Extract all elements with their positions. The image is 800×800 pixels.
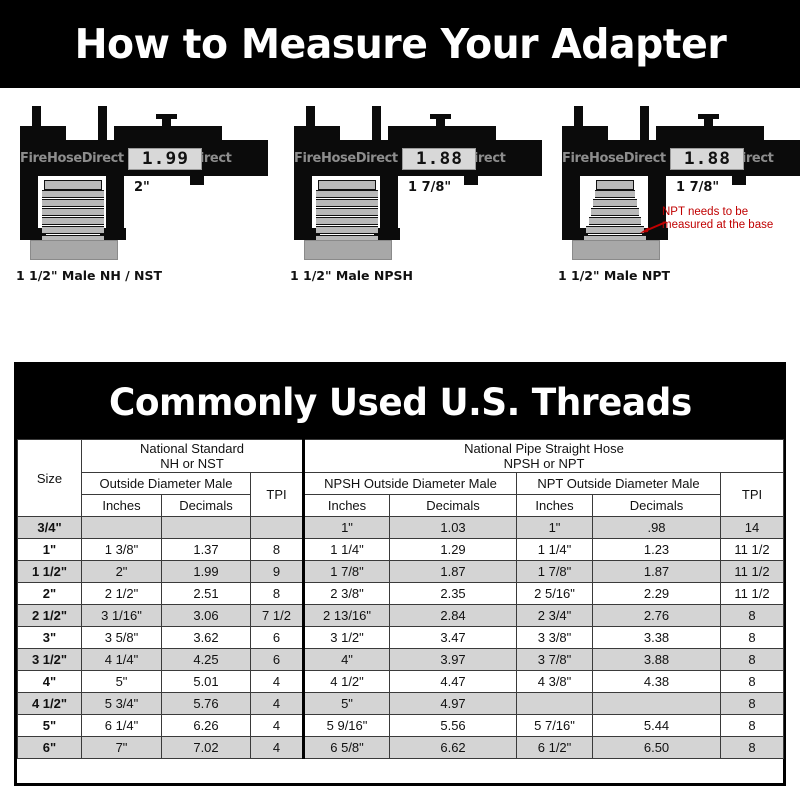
adapter-base-block <box>30 240 118 260</box>
npt-note-line1: NPT needs to be <box>662 206 773 219</box>
cell-npt-tpi: 8 <box>721 671 784 693</box>
thread-stack <box>316 180 378 242</box>
col-header-nh-decimals: Decimals <box>162 495 251 517</box>
table-row: 4 1/2"5 3/4"5.7645"4.978 <box>18 693 784 715</box>
cell-npsh-inches: 4 1/2" <box>304 671 390 693</box>
cell-nh-inches: 3 1/16" <box>82 605 162 627</box>
cell-nh-decimals: 5.76 <box>162 693 251 715</box>
cell-nh-decimals: 5.01 <box>162 671 251 693</box>
cell-npt-tpi: 8 <box>721 715 784 737</box>
thread-ridge <box>42 190 104 198</box>
thread-ridge <box>316 217 378 225</box>
cell-npt-tpi: 11 1/2 <box>721 561 784 583</box>
cell-npsh-inches: 5" <box>304 693 390 715</box>
cell-npt-inches: 1 1/4" <box>517 539 593 561</box>
col-header-nh-inches: Inches <box>82 495 162 517</box>
thread-ridge <box>589 217 641 225</box>
cell-npsh-inches: 1" <box>304 517 390 539</box>
thread-ridge <box>42 226 104 234</box>
cell-nh-decimals: 2.51 <box>162 583 251 605</box>
col-header-npsh-od-male: NPSH Outside Diameter Male <box>304 473 517 495</box>
caliper-illustration: FireHoseDirect FireHoseDirect 1.88 <box>276 88 542 288</box>
col-header-npt-od-male: NPT Outside Diameter Male <box>517 473 721 495</box>
cell-npt-tpi: 11 1/2 <box>721 583 784 605</box>
cell-nh-inches: 5" <box>82 671 162 693</box>
cell-npsh-inches: 3 1/2" <box>304 627 390 649</box>
cell-nh-inches: 6 1/4" <box>82 715 162 737</box>
table-row: 3"3 5/8"3.6263 1/2"3.473 3/8"3.388 <box>18 627 784 649</box>
cell-size: 1" <box>18 539 82 561</box>
cell-npt-decimals <box>593 693 721 715</box>
thread-ridge <box>42 217 104 225</box>
lcd-value: 1.88 <box>415 149 462 169</box>
cell-npsh-inches: 6 5/8" <box>304 737 390 759</box>
cell-npt-inches: 2 5/16" <box>517 583 593 605</box>
group-npsh-line1: National Pipe Straight Hose <box>307 441 781 456</box>
cell-npsh-inches: 2 13/16" <box>304 605 390 627</box>
diagram-caption: 1 1/2" Male NPSH <box>290 268 413 283</box>
cell-nh-tpi: 8 <box>251 583 304 605</box>
group-npsh-line2: NPSH or NPT <box>307 456 781 471</box>
caliper-lcd-display: 1.88 <box>402 148 476 170</box>
threads-table-head: Size National Standard NH or NST Nationa… <box>18 440 784 517</box>
cell-npt-inches <box>517 693 593 715</box>
caliper-illustration: FireHoseDirect FireHoseDirect 1.88 <box>544 88 800 288</box>
table-header-row-units: Inches Decimals Inches Decimals Inches D… <box>18 495 784 517</box>
cell-nh-decimals: 7.02 <box>162 737 251 759</box>
table-row: 2"2 1/2"2.5182 3/8"2.352 5/16"2.2911 1/2 <box>18 583 784 605</box>
cell-nh-inches: 4 1/4" <box>82 649 162 671</box>
cell-nh-tpi: 4 <box>251 715 304 737</box>
cell-size: 1 1/2" <box>18 561 82 583</box>
measurement-label: 1 7/8" <box>676 180 719 195</box>
threads-table: Size National Standard NH or NST Nationa… <box>17 439 784 759</box>
cell-npsh-decimals: 1.29 <box>390 539 517 561</box>
cell-npsh-decimals: 4.47 <box>390 671 517 693</box>
col-header-nh-tpi: TPI <box>251 473 304 517</box>
cell-npsh-decimals: 1.03 <box>390 517 517 539</box>
diagram-npsh: FireHoseDirect FireHoseDirect 1.88 <box>276 88 542 360</box>
diagram-npt: FireHoseDirect FireHoseDirect 1.88 <box>544 88 800 360</box>
cell-npt-decimals: 2.76 <box>593 605 721 627</box>
cell-npt-tpi: 11 1/2 <box>721 539 784 561</box>
thread-ridge <box>316 199 378 207</box>
caliper-lcd-display: 1.99 <box>128 148 202 170</box>
caliper-upper-arm-right <box>98 106 107 142</box>
cell-npt-tpi: 8 <box>721 649 784 671</box>
cell-npt-inches: 5 7/16" <box>517 715 593 737</box>
thread-ridge <box>593 199 637 207</box>
table-header-row-groups: Size National Standard NH or NST Nationa… <box>18 440 784 473</box>
cell-npt-decimals: 3.88 <box>593 649 721 671</box>
table-row: 5"6 1/4"6.2645 9/16"5.565 7/16"5.448 <box>18 715 784 737</box>
cell-nh-inches: 1 3/8" <box>82 539 162 561</box>
cell-nh-inches: 3 5/8" <box>82 627 162 649</box>
table-row: 4"5"5.0144 1/2"4.474 3/8"4.388 <box>18 671 784 693</box>
col-header-npt-decimals: Decimals <box>593 495 721 517</box>
cell-size: 3/4" <box>18 517 82 539</box>
caliper-thumbwheel-cap <box>698 114 719 119</box>
cell-nh-tpi: 6 <box>251 649 304 671</box>
cell-nh-decimals: 3.06 <box>162 605 251 627</box>
col-header-npsh-inches: Inches <box>304 495 390 517</box>
page-title-banner: How to Measure Your Adapter <box>0 0 800 88</box>
cell-npt-decimals: 4.38 <box>593 671 721 693</box>
adapter-base-block <box>572 240 660 260</box>
cell-size: 4" <box>18 671 82 693</box>
cell-nh-tpi: 4 <box>251 737 304 759</box>
cell-npt-decimals: 1.87 <box>593 561 721 583</box>
cell-nh-tpi: 4 <box>251 693 304 715</box>
cell-nh-inches: 2" <box>82 561 162 583</box>
cell-npt-decimals: .98 <box>593 517 721 539</box>
group-nh-line1: National Standard <box>84 441 300 456</box>
cell-size: 4 1/2" <box>18 693 82 715</box>
cell-nh-inches: 5 3/4" <box>82 693 162 715</box>
cell-npt-inches: 4 3/8" <box>517 671 593 693</box>
cell-npsh-decimals: 6.62 <box>390 737 517 759</box>
cell-size: 3" <box>18 627 82 649</box>
cell-npsh-decimals: 3.47 <box>390 627 517 649</box>
npt-note-line2: measured at the base <box>662 219 773 232</box>
cell-nh-decimals: 1.99 <box>162 561 251 583</box>
col-header-npt-inches: Inches <box>517 495 593 517</box>
table-row: 2 1/2"3 1/16"3.067 1/22 13/16"2.842 3/4"… <box>18 605 784 627</box>
table-row: 1"1 3/8"1.3781 1/4"1.291 1/4"1.2311 1/2 <box>18 539 784 561</box>
cell-npt-decimals: 2.29 <box>593 583 721 605</box>
thread-ridge <box>316 190 378 198</box>
cell-npt-tpi: 8 <box>721 605 784 627</box>
col-group-national-standard: National Standard NH or NST <box>82 440 304 473</box>
measurement-label: 1 7/8" <box>408 180 451 195</box>
table-header-row-subgroups: Outside Diameter Male TPI NPSH Outside D… <box>18 473 784 495</box>
caliper-thumbwheel-cap <box>430 114 451 119</box>
caliper-thumbwheel-cap <box>156 114 177 119</box>
cell-nh-decimals: 1.37 <box>162 539 251 561</box>
cell-npsh-inches: 5 9/16" <box>304 715 390 737</box>
cell-npsh-decimals: 4.97 <box>390 693 517 715</box>
cell-npsh-inches: 1 1/4" <box>304 539 390 561</box>
threaded-nipple-tapered <box>584 180 646 242</box>
thread-ridge <box>595 190 635 198</box>
threaded-nipple <box>42 180 104 242</box>
col-header-size: Size <box>18 440 82 517</box>
caliper-depth-nub <box>190 176 204 185</box>
thread-ridge <box>42 199 104 207</box>
cell-nh-decimals <box>162 517 251 539</box>
cell-npt-decimals: 5.44 <box>593 715 721 737</box>
lcd-value: 1.99 <box>141 149 188 169</box>
caliper-lcd-display: 1.88 <box>670 148 744 170</box>
cell-nh-tpi: 8 <box>251 539 304 561</box>
thread-ridge <box>591 208 639 216</box>
col-header-nh-od-male: Outside Diameter Male <box>82 473 251 495</box>
npt-measurement-note: NPT needs to be measured at the base <box>662 206 773 232</box>
cell-nh-tpi: 6 <box>251 627 304 649</box>
cell-npsh-inches: 4" <box>304 649 390 671</box>
cell-size: 2" <box>18 583 82 605</box>
page-root: How to Measure Your Adapter FireHoseDire… <box>0 0 800 800</box>
table-row: 3/4"1"1.031".9814 <box>18 517 784 539</box>
thread-ridge <box>316 226 378 234</box>
cell-size: 6" <box>18 737 82 759</box>
cell-npt-tpi: 14 <box>721 517 784 539</box>
cell-size: 2 1/2" <box>18 605 82 627</box>
cell-nh-inches <box>82 517 162 539</box>
cell-npt-decimals: 6.50 <box>593 737 721 759</box>
thread-ridge <box>42 208 104 216</box>
caliper-diagrams: FireHoseDirect FireHoseDirect 1.99 <box>0 88 800 360</box>
lcd-value: 1.88 <box>683 149 730 169</box>
adapter-base-block <box>304 240 392 260</box>
diagram-caption: 1 1/2" Male NH / NST <box>16 268 162 283</box>
table-row: 1 1/2"2"1.9991 7/8"1.871 7/8"1.8711 1/2 <box>18 561 784 583</box>
cell-nh-tpi <box>251 517 304 539</box>
col-header-npsh-decimals: Decimals <box>390 495 517 517</box>
threads-table-body: 3/4"1"1.031".98141"1 3/8"1.3781 1/4"1.29… <box>18 517 784 759</box>
group-nh-line2: NH or NST <box>84 456 300 471</box>
thread-ridge <box>316 208 378 216</box>
cell-nh-decimals: 3.62 <box>162 627 251 649</box>
cell-npt-inches: 1" <box>517 517 593 539</box>
cell-npt-inches: 3 3/8" <box>517 627 593 649</box>
thread-stack <box>584 180 646 242</box>
cell-nh-inches: 7" <box>82 737 162 759</box>
cell-size: 5" <box>18 715 82 737</box>
table-row: 6"7"7.0246 5/8"6.626 1/2"6.508 <box>18 737 784 759</box>
caliper-illustration: FireHoseDirect FireHoseDirect 1.99 <box>2 88 268 288</box>
cell-nh-decimals: 4.25 <box>162 649 251 671</box>
caliper-depth-nub <box>732 176 746 185</box>
measurement-label: 2" <box>134 180 150 195</box>
cell-npt-tpi: 8 <box>721 693 784 715</box>
cell-npt-inches: 2 3/4" <box>517 605 593 627</box>
thread-stack <box>42 180 104 242</box>
cell-npsh-decimals: 2.35 <box>390 583 517 605</box>
table-row: 3 1/2"4 1/4"4.2564"3.973 7/8"3.888 <box>18 649 784 671</box>
cell-size: 3 1/2" <box>18 649 82 671</box>
cell-nh-tpi: 7 1/2 <box>251 605 304 627</box>
col-group-national-pipe-straight-hose: National Pipe Straight Hose NPSH or NPT <box>304 440 784 473</box>
cell-npt-decimals: 3.38 <box>593 627 721 649</box>
threads-table-section: Commonly Used U.S. Threads Size National… <box>14 362 786 786</box>
threads-table-title: Commonly Used U.S. Threads <box>109 381 692 424</box>
caliper-upper-arm-right <box>640 106 649 142</box>
cell-npsh-decimals: 2.84 <box>390 605 517 627</box>
cell-nh-inches: 2 1/2" <box>82 583 162 605</box>
caliper-depth-nub <box>464 176 478 185</box>
cell-npsh-decimals: 5.56 <box>390 715 517 737</box>
cell-npsh-inches: 1 7/8" <box>304 561 390 583</box>
threaded-nipple <box>316 180 378 242</box>
cell-npt-decimals: 1.23 <box>593 539 721 561</box>
diagram-nh-nst: FireHoseDirect FireHoseDirect 1.99 <box>2 88 268 360</box>
page-title: How to Measure Your Adapter <box>74 20 726 68</box>
cell-nh-tpi: 4 <box>251 671 304 693</box>
cell-nh-tpi: 9 <box>251 561 304 583</box>
cell-npt-inches: 6 1/2" <box>517 737 593 759</box>
cell-npsh-decimals: 1.87 <box>390 561 517 583</box>
col-header-npt-tpi: TPI <box>721 473 784 517</box>
cell-npt-tpi: 8 <box>721 737 784 759</box>
cell-npsh-decimals: 3.97 <box>390 649 517 671</box>
thread-ridge <box>586 226 644 234</box>
threads-table-banner: Commonly Used U.S. Threads <box>17 365 783 439</box>
cell-npt-inches: 1 7/8" <box>517 561 593 583</box>
cell-npt-inches: 3 7/8" <box>517 649 593 671</box>
cell-nh-decimals: 6.26 <box>162 715 251 737</box>
caliper-upper-arm-right <box>372 106 381 142</box>
diagram-caption: 1 1/2" Male NPT <box>558 268 670 283</box>
cell-npt-tpi: 8 <box>721 627 784 649</box>
cell-npsh-inches: 2 3/8" <box>304 583 390 605</box>
